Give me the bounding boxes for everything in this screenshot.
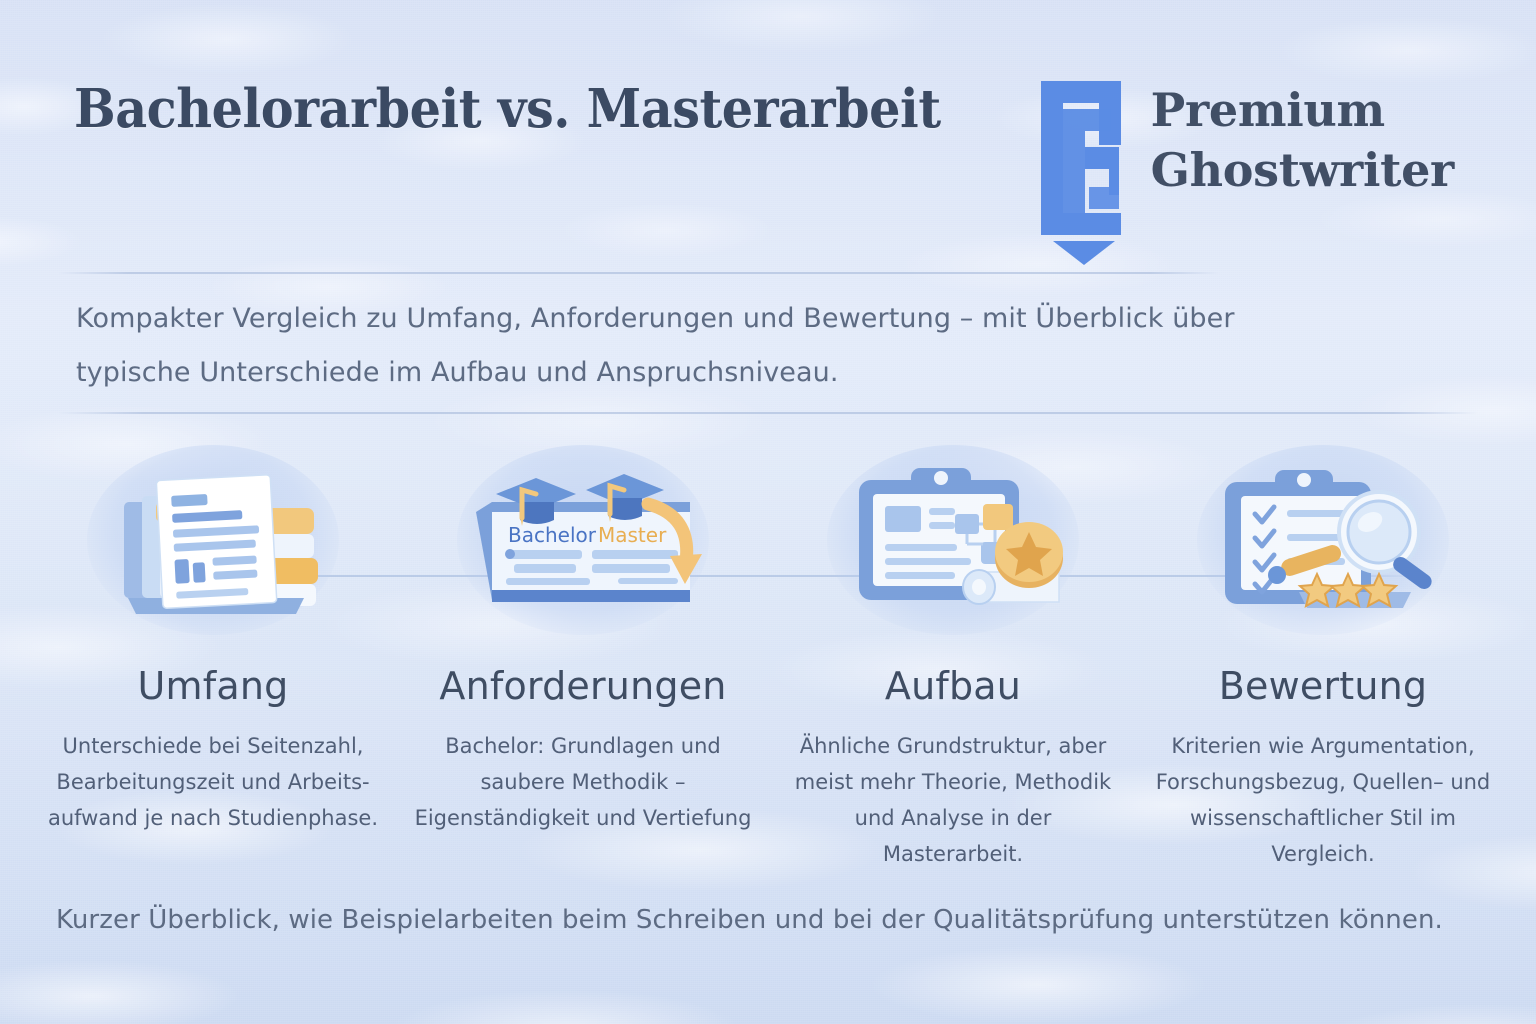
page-title: Bachelorarbeit vs. Masterarbeit — [74, 78, 941, 140]
divider-middle — [58, 412, 1478, 414]
brand-line-2: Ghostwriter — [1151, 141, 1454, 201]
column-body: Ähnliche Grundstruktur, aber meist mehr … — [783, 728, 1123, 872]
pg-monogram-logo-icon — [1033, 75, 1129, 265]
header: Bachelorarbeit vs. Masterarbeit — [0, 0, 1536, 270]
column-heading: Bewertung — [1219, 664, 1428, 708]
comparison-columns: Umfang Unterschiede bei Seitenzahl, Bear… — [28, 440, 1508, 872]
stacked-books-document-icon — [85, 440, 341, 640]
column-body: Bachelor: Grundlagen und saubere Methodi… — [413, 728, 753, 836]
column-umfang: Umfang Unterschiede bei Seitenzahl, Bear… — [28, 440, 398, 872]
column-heading: Aufbau — [885, 664, 1021, 708]
divider-top — [58, 272, 1220, 274]
column-bewertung: Bewertung Kriterien wie Argumentation, F… — [1138, 440, 1508, 872]
column-heading: Umfang — [138, 664, 289, 708]
footer-note: Kurzer Überblick, wie Beispielarbeiten b… — [56, 905, 1476, 935]
clipboard-checklist-magnifier-stars-icon — [1195, 440, 1451, 640]
column-heading: Anforderungen — [439, 664, 726, 708]
column-body: Kriterien wie Argumentation, Forschungsb… — [1153, 728, 1493, 872]
column-anforderungen: Bachelor Master — [398, 440, 768, 872]
graduation-caps-board-icon: Bachelor Master — [455, 440, 711, 640]
clipboard-flowchart-medal-icon — [825, 440, 1081, 640]
column-body: Unterschiede bei Seitenzahl, Bearbeitung… — [43, 728, 383, 836]
brand-lockup: Premium Ghostwriter — [1033, 75, 1454, 265]
brand-name: Premium Ghostwriter — [1151, 75, 1454, 201]
brand-line-1: Premium — [1151, 81, 1454, 141]
label-bachelor: Bachelor — [508, 523, 597, 547]
label-master: Master — [598, 523, 667, 547]
subtitle: Kompakter Vergleich zu Umfang, Anforderu… — [76, 292, 1336, 400]
column-aufbau: Aufbau Ähnliche Grundstruktur, aber meis… — [768, 440, 1138, 872]
